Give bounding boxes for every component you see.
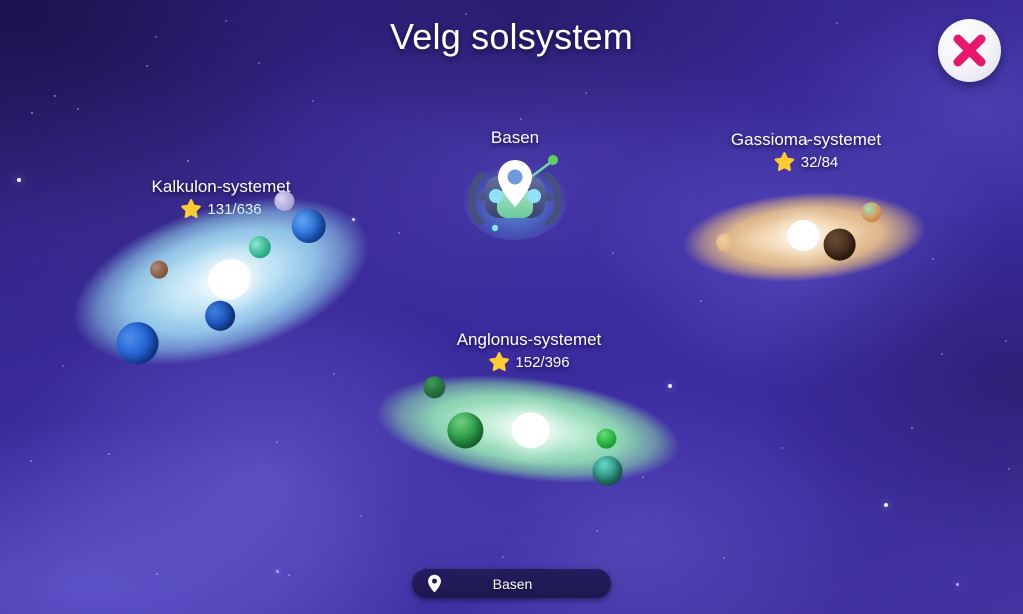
background-star bbox=[1005, 340, 1007, 342]
background-star bbox=[276, 570, 279, 573]
map-pin-icon bbox=[427, 574, 442, 593]
background-star bbox=[911, 427, 913, 429]
base-nav-button-label: Basen bbox=[442, 576, 583, 592]
system-anglonus-label: Anglonus-systemet 152/396 bbox=[457, 329, 602, 372]
background-star bbox=[156, 573, 158, 575]
background-star bbox=[187, 160, 189, 162]
planet[interactable] bbox=[288, 205, 330, 247]
background-star bbox=[596, 530, 598, 532]
background-star bbox=[781, 447, 783, 449]
system-score: 152/396 bbox=[457, 352, 602, 372]
close-button[interactable] bbox=[938, 19, 1001, 82]
background-star bbox=[54, 95, 56, 97]
background-star bbox=[1008, 468, 1010, 470]
background-star bbox=[668, 384, 672, 388]
background-star bbox=[700, 300, 702, 302]
background-star bbox=[62, 365, 64, 367]
background-star bbox=[77, 108, 79, 110]
background-star bbox=[258, 62, 260, 64]
system-gassioma-label: Gassioma-systemet 32/84 bbox=[731, 129, 881, 172]
background-star bbox=[360, 515, 362, 517]
background-star bbox=[146, 65, 148, 67]
background-star bbox=[31, 112, 33, 114]
background-star bbox=[520, 118, 522, 120]
base-nav-button[interactable]: Basen bbox=[412, 569, 611, 598]
background-star bbox=[17, 178, 21, 182]
background-star bbox=[723, 557, 725, 559]
background-star bbox=[30, 460, 32, 462]
solar-system-select-screen: Velg solsystem Kalkulon-systemet 131/636 bbox=[0, 0, 1023, 614]
background-star bbox=[612, 252, 614, 254]
planet[interactable] bbox=[861, 202, 882, 223]
background-star bbox=[333, 373, 335, 375]
system-name: Kalkulon-systemet bbox=[152, 176, 291, 197]
page-title: Velg solsystem bbox=[0, 16, 1023, 58]
background-star bbox=[288, 574, 290, 576]
system-score: 32/84 bbox=[731, 152, 881, 172]
background-star bbox=[585, 92, 587, 94]
background-star bbox=[884, 503, 888, 507]
system-score-text: 152/396 bbox=[515, 353, 569, 372]
planet[interactable] bbox=[716, 233, 735, 252]
background-star bbox=[108, 453, 110, 455]
system-name: Anglonus-systemet bbox=[457, 329, 602, 350]
background-star bbox=[465, 13, 467, 15]
background-star bbox=[398, 232, 400, 234]
close-x-icon bbox=[951, 32, 988, 69]
background-star bbox=[276, 441, 278, 443]
background-star bbox=[956, 583, 959, 586]
star-icon bbox=[488, 352, 509, 372]
background-star bbox=[502, 556, 504, 558]
system-score-text: 32/84 bbox=[801, 153, 839, 172]
base-station[interactable]: Basen bbox=[455, 128, 575, 238]
background-star bbox=[932, 258, 934, 260]
background-star bbox=[941, 353, 943, 355]
planet[interactable] bbox=[422, 375, 447, 400]
background-star bbox=[312, 100, 314, 102]
system-name: Gassioma-systemet bbox=[731, 129, 881, 150]
base-label: Basen bbox=[491, 128, 539, 148]
space-station-icon bbox=[455, 150, 575, 240]
background-star bbox=[642, 476, 644, 478]
star-icon bbox=[774, 152, 795, 172]
